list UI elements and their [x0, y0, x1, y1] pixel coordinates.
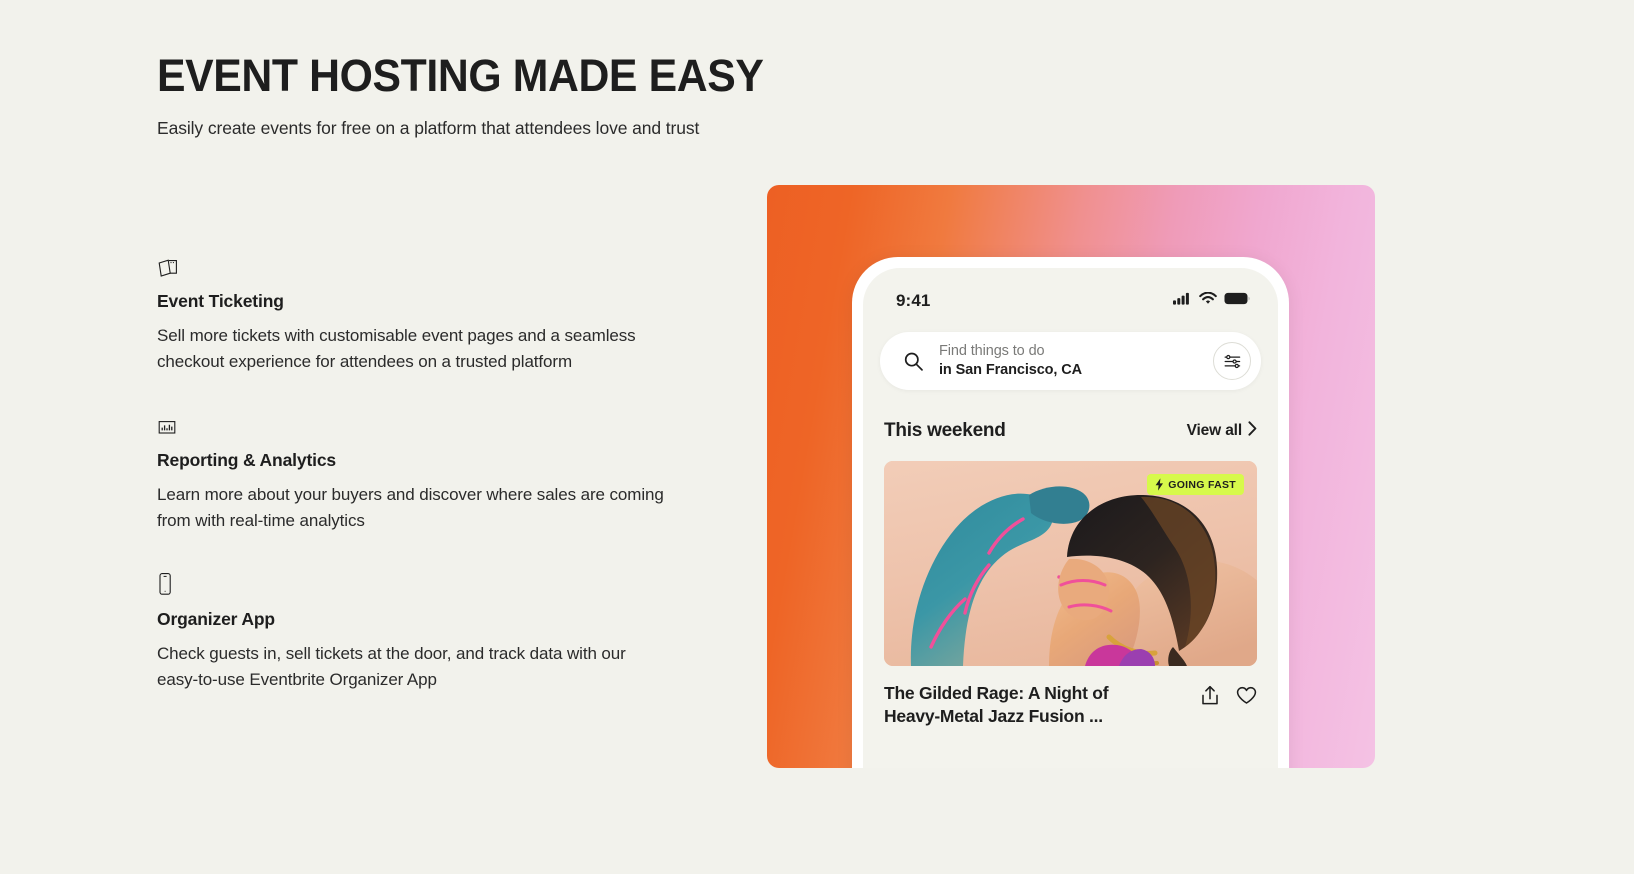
event-actions [1200, 682, 1257, 711]
page-subtitle: Easily create events for free on a platf… [157, 117, 717, 141]
feature-item-event-ticketing: Event Ticketing Sell more tickets with c… [157, 252, 697, 375]
page-title: EVENT HOSTING MADE EASY [157, 52, 689, 100]
feature-title: Reporting & Analytics [157, 450, 697, 471]
section-header: This weekend View all [863, 390, 1278, 442]
tickets-icon [157, 252, 697, 278]
mobile-phone-icon [157, 570, 697, 596]
search-section: Find things to do in San Francisco, CA [863, 320, 1278, 390]
lightning-bolt-icon [1155, 478, 1164, 491]
status-badge-label: GOING FAST [1168, 479, 1236, 491]
event-card[interactable]: GOING FAST The Gilded Rage: A Night of H… [863, 442, 1278, 728]
promo-gradient-panel: 9:41 [767, 185, 1375, 768]
search-bar[interactable]: Find things to do in San Francisco, CA [880, 332, 1261, 390]
page-root: EVENT HOSTING MADE EASY Easily create ev… [0, 0, 1634, 874]
bar-chart-icon [157, 411, 697, 437]
feature-title: Organizer App [157, 609, 697, 630]
status-bar: 9:41 [863, 268, 1278, 320]
chevron-right-icon [1248, 421, 1257, 441]
feature-list: Event Ticketing Sell more tickets with c… [157, 252, 697, 693]
wifi-icon [1199, 292, 1217, 310]
feature-item-organizer-app: Organizer App Check guests in, sell tick… [157, 570, 697, 693]
event-title: The Gilded Rage: A Night of Heavy-Metal … [884, 682, 1164, 728]
share-icon[interactable] [1200, 685, 1220, 711]
search-icon [900, 351, 926, 372]
phone-mockup: 9:41 [852, 257, 1289, 768]
phone-screen: 9:41 [863, 268, 1278, 768]
cellular-signal-icon [1173, 292, 1192, 310]
heart-icon[interactable] [1236, 686, 1257, 710]
event-photo: GOING FAST [884, 461, 1257, 666]
feature-title: Event Ticketing [157, 291, 697, 312]
event-meta: The Gilded Rage: A Night of Heavy-Metal … [884, 682, 1257, 728]
status-bar-time: 9:41 [896, 291, 930, 311]
filter-sliders-icon[interactable] [1213, 342, 1251, 380]
search-location-text: in San Francisco, CA [939, 362, 1213, 379]
feature-description: Learn more about your buyers and discove… [157, 482, 667, 534]
status-badge: GOING FAST [1147, 474, 1244, 495]
view-all-link[interactable]: View all [1187, 421, 1257, 441]
feature-description: Check guests in, sell tickets at the doo… [157, 641, 667, 693]
search-input[interactable]: Find things to do in San Francisco, CA [939, 343, 1213, 378]
hero-text-block: EVENT HOSTING MADE EASY Easily create ev… [157, 52, 717, 140]
status-bar-icons [1173, 292, 1250, 310]
view-all-label: View all [1187, 422, 1242, 440]
feature-description: Sell more tickets with customisable even… [157, 323, 667, 375]
search-placeholder-text: Find things to do [939, 343, 1213, 360]
battery-icon [1224, 292, 1250, 310]
feature-item-reporting-analytics: Reporting & Analytics Learn more about y… [157, 411, 697, 534]
section-title: This weekend [884, 420, 1006, 442]
